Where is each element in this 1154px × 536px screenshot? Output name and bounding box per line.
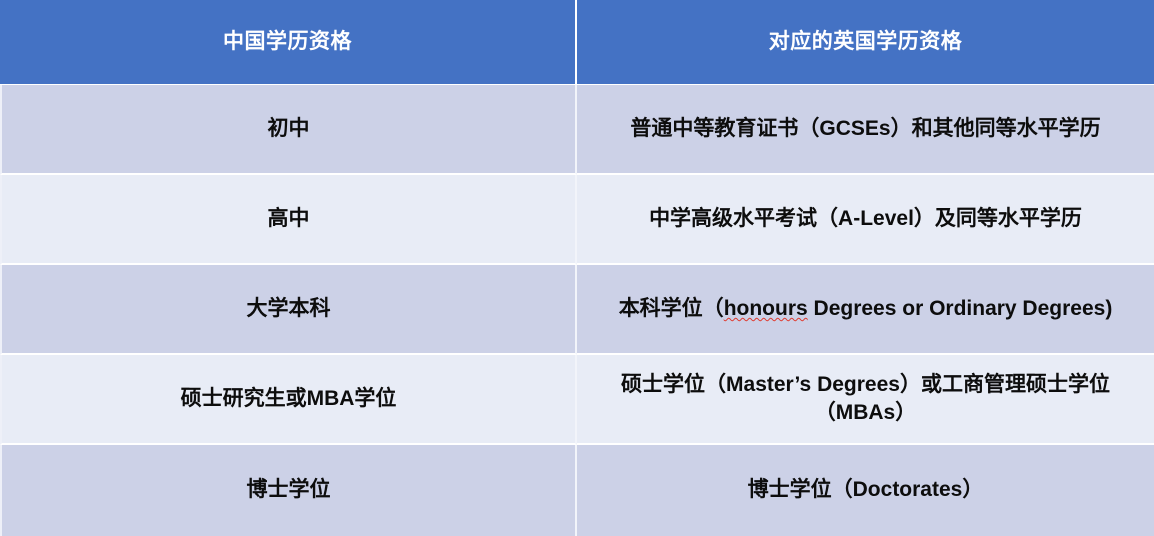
cell-text: 硕士研究生或MBA学位 — [181, 385, 397, 413]
cell-uk-qualification: 本科学位（honours Degrees or Ordinary Degrees… — [577, 265, 1154, 355]
cell-uk-qualification: 硕士学位（Master’s Degrees）或工商管理硕士学位（MBAs） — [577, 355, 1154, 445]
cell-text-composed: 本科学位（honours Degrees or Ordinary Degrees… — [619, 295, 1113, 323]
table-row: 大学本科 本科学位（honours Degrees or Ordinary De… — [0, 265, 1154, 355]
cell-china-qualification: 博士学位 — [0, 445, 577, 536]
spellcheck-word: honours — [724, 297, 808, 320]
cell-china-qualification: 初中 — [0, 85, 577, 175]
cell-text-prefix: 本科学位（ — [619, 297, 724, 320]
cell-text: 初中 — [268, 115, 310, 143]
cell-text: 普通中等教育证书（GCSEs）和其他同等水平学历 — [630, 115, 1100, 143]
cell-text-suffix: Degrees or Ordinary Degrees) — [808, 297, 1113, 320]
cell-china-qualification: 大学本科 — [0, 265, 577, 355]
qualification-comparison-table: 中国学历资格 对应的英国学历资格 初中 普通中等教育证书（GCSEs）和其他同等… — [0, 0, 1154, 536]
cell-text: 博士学位（Doctorates） — [748, 476, 984, 504]
cell-uk-qualification: 普通中等教育证书（GCSEs）和其他同等水平学历 — [577, 85, 1154, 175]
cell-text: 中学高级水平考试（A-Level）及同等水平学历 — [649, 205, 1082, 233]
cell-text: 大学本科 — [247, 295, 331, 323]
column-header-china-qualification: 中国学历资格 — [0, 0, 577, 84]
column-header-uk-qualification: 对应的英国学历资格 — [577, 0, 1154, 84]
cell-china-qualification: 高中 — [0, 175, 577, 265]
cell-uk-qualification: 博士学位（Doctorates） — [577, 445, 1154, 536]
cell-uk-qualification: 中学高级水平考试（A-Level）及同等水平学历 — [577, 175, 1154, 265]
cell-text: 硕士学位（Master’s Degrees）或工商管理硕士学位（MBAs） — [587, 371, 1144, 428]
cell-china-qualification: 硕士研究生或MBA学位 — [0, 355, 577, 445]
table-row: 初中 普通中等教育证书（GCSEs）和其他同等水平学历 — [0, 85, 1154, 175]
column-header-uk-qualification-label: 对应的英国学历资格 — [769, 29, 963, 55]
table-row: 硕士研究生或MBA学位 硕士学位（Master’s Degrees）或工商管理硕… — [0, 355, 1154, 445]
column-header-china-qualification-label: 中国学历资格 — [223, 29, 352, 55]
table-row: 高中 中学高级水平考试（A-Level）及同等水平学历 — [0, 175, 1154, 265]
cell-text: 博士学位 — [247, 476, 331, 504]
table-row: 博士学位 博士学位（Doctorates） — [0, 445, 1154, 536]
table-header-row: 中国学历资格 对应的英国学历资格 — [0, 0, 1154, 85]
cell-text: 高中 — [268, 205, 310, 233]
